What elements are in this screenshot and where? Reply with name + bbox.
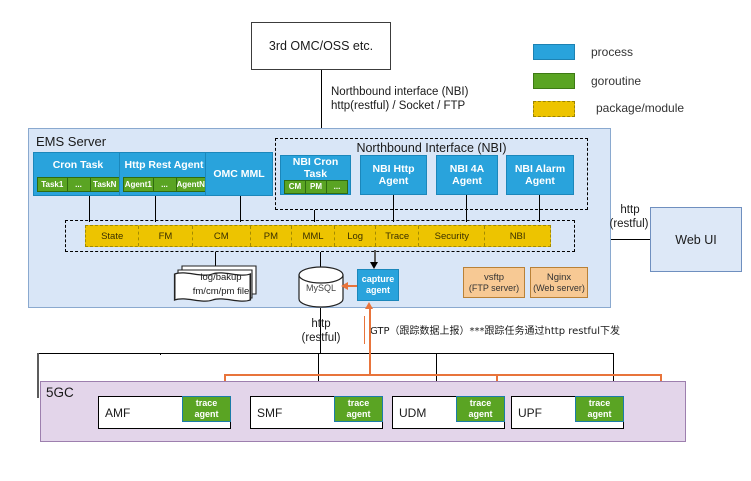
legend-swatch-process xyxy=(533,44,575,60)
web-ui-label: Web UI xyxy=(675,233,716,247)
process-cron-task-label: Cron Task xyxy=(32,153,124,177)
nf-amf-label: AMF xyxy=(105,406,130,420)
goroutine-agent-ellipsis[interactable]: ... xyxy=(153,177,177,192)
file-label-fm-cm-pm: fm/cm/pm file xyxy=(172,286,270,298)
five-gc-title: 5GC xyxy=(46,385,74,400)
trace-agent-upf-line1: trace xyxy=(589,398,611,409)
file-stack-shape xyxy=(172,264,270,306)
vsftp-server-box[interactable]: vsftp (FTP server) xyxy=(463,267,525,298)
third-party-oss-label: 3rd OMC/OSS etc. xyxy=(269,39,373,53)
nginx-server-box[interactable]: Nginx (Web server) xyxy=(530,267,588,298)
arrow-capture-agent-to-database xyxy=(341,282,348,290)
web-ui-box[interactable]: Web UI xyxy=(650,207,742,272)
gtp-http-label-line1: http xyxy=(298,317,344,331)
module-bar: State FM CM PM MML Log Trace Security NB… xyxy=(85,225,551,247)
process-nbi-4a-agent[interactable]: NBI 4A Agent xyxy=(436,155,498,195)
connector-orange-to-smf-trace xyxy=(369,308,371,374)
vsftp-role: (FTP server) xyxy=(469,283,519,294)
module-cm[interactable]: CM xyxy=(193,226,251,246)
process-nbi-cron-task-label: NBI Cron Task xyxy=(279,156,352,180)
trace-agent-upf-line2: agent xyxy=(587,409,611,420)
process-nbi-http-agent-label: NBI Http Agent xyxy=(359,156,428,194)
legend-swatch-goroutine xyxy=(533,73,575,89)
trace-agent-smf-line2: agent xyxy=(346,409,370,420)
trace-agent-amf[interactable]: trace agent xyxy=(182,396,231,422)
module-nbi[interactable]: NBI xyxy=(485,226,550,246)
process-http-rest-agent[interactable]: Http Rest Agent Agent1 ... AgentN xyxy=(119,152,209,196)
module-pm[interactable]: PM xyxy=(251,226,292,246)
goroutine-nbi-pm[interactable]: PM xyxy=(305,180,327,194)
goroutine-task-ellipsis[interactable]: ... xyxy=(67,177,91,192)
trace-agent-amf-line2: agent xyxy=(194,409,218,420)
nf-udm-label: UDM xyxy=(399,406,426,420)
arrow-modules-to-capture-agent xyxy=(370,262,378,269)
goroutine-nbi-ellipsis[interactable]: ... xyxy=(326,180,348,194)
third-party-oss-box: 3rd OMC/OSS etc. xyxy=(251,22,391,70)
connector-ems-to-web-ui xyxy=(611,239,650,240)
nf-upf-label: UPF xyxy=(518,406,542,420)
legend: process goroutine package/module xyxy=(533,44,748,116)
connector-http-rest-agent-to-modules xyxy=(155,196,156,222)
connector-cron-task-to-modules xyxy=(89,196,90,222)
web-ui-link-label-line1: http xyxy=(605,203,655,217)
ems-server-title: EMS Server xyxy=(36,134,106,149)
connector-bus-to-amf xyxy=(37,353,39,398)
nf-smf-label: SMF xyxy=(257,406,282,420)
database-label: MySQL xyxy=(297,283,345,293)
connector-nbi-4a-agent-to-modules xyxy=(466,195,467,222)
gtp-note-separator xyxy=(364,316,365,344)
goroutine-taskn[interactable]: TaskN xyxy=(90,177,121,192)
goroutine-task1[interactable]: Task1 xyxy=(37,177,68,192)
nbi-link-label-line1: Northbound interface (NBI) xyxy=(331,85,468,99)
arrow-trace-to-capture-agent xyxy=(365,302,373,309)
nbi-link-label-line2: http(restful) / Socket / FTP xyxy=(331,99,465,113)
process-nbi-http-agent[interactable]: NBI Http Agent xyxy=(360,155,427,195)
legend-swatch-package-module xyxy=(533,101,575,117)
nbi-cron-task-goroutines: CM PM ... xyxy=(284,180,347,194)
module-mml[interactable]: MML xyxy=(292,226,335,246)
goroutine-nbi-cm[interactable]: CM xyxy=(284,180,306,194)
connector-bus-down-mid xyxy=(160,353,161,355)
file-label-log-backup: log/bakup xyxy=(172,272,270,284)
module-trace[interactable]: Trace xyxy=(376,226,419,246)
process-omc-mml[interactable]: OMC MML xyxy=(205,152,273,196)
goroutine-agentn[interactable]: AgentN xyxy=(176,177,207,192)
process-cron-task[interactable]: Cron Task Task1 ... TaskN xyxy=(33,152,123,196)
trace-agent-udm-line2: agent xyxy=(468,409,492,420)
web-ui-link-label-line2: (restful) xyxy=(600,217,658,231)
goroutine-agent1[interactable]: Agent1 xyxy=(123,177,154,192)
connector-omc-mml-to-modules xyxy=(240,196,241,222)
gtp-http-label-line2: (restful) xyxy=(298,331,344,345)
nginx-name: Nginx xyxy=(547,272,571,283)
process-http-rest-agent-label: Http Rest Agent xyxy=(118,153,210,177)
legend-label-goroutine: goroutine xyxy=(591,74,641,88)
connector-nbi-alarm-agent-to-modules xyxy=(539,195,540,222)
trace-agent-udm-line1: trace xyxy=(470,398,492,409)
process-omc-mml-label: OMC MML xyxy=(204,153,274,195)
connector-nbi-http-agent-to-modules xyxy=(393,195,394,222)
connector-oss-to-ems xyxy=(321,70,322,128)
legend-label-package-module: package/module xyxy=(596,101,684,115)
cron-task-goroutines: Task1 ... TaskN xyxy=(37,177,119,192)
capture-agent-label-line1: capture xyxy=(362,274,395,285)
process-nbi-4a-agent-label: NBI 4A Agent xyxy=(435,156,499,194)
capture-agent-label-line2: agent xyxy=(366,285,390,296)
capture-agent-box[interactable]: capture agent xyxy=(357,269,399,301)
module-log[interactable]: Log xyxy=(335,226,376,246)
http-rest-agent-goroutines: Agent1 ... AgentN xyxy=(123,177,205,192)
gtp-note-label: GTP（跟踪数据上报）***跟踪任务通过http restful下发 xyxy=(370,322,620,337)
trace-agent-smf-line1: trace xyxy=(348,398,370,409)
module-security[interactable]: Security xyxy=(419,226,485,246)
trace-bus-black xyxy=(37,353,614,354)
process-nbi-alarm-agent[interactable]: NBI Alarm Agent xyxy=(506,155,574,195)
module-fm[interactable]: FM xyxy=(139,226,192,246)
trace-bus-orange xyxy=(224,374,661,376)
nginx-role: (Web server) xyxy=(533,283,585,294)
module-state[interactable]: State xyxy=(86,226,139,246)
process-nbi-cron-task[interactable]: NBI Cron Task CM PM ... xyxy=(280,155,351,195)
process-nbi-alarm-agent-label: NBI Alarm Agent xyxy=(505,156,575,194)
trace-agent-amf-line1: trace xyxy=(196,398,218,409)
trace-agent-udm[interactable]: trace agent xyxy=(456,396,505,422)
trace-agent-smf[interactable]: trace agent xyxy=(334,396,383,422)
legend-label-process: process xyxy=(591,45,633,59)
trace-agent-upf[interactable]: trace agent xyxy=(575,396,624,422)
nbi-group-title: Northbound Interface (NBI) xyxy=(275,140,588,156)
vsftp-name: vsftp xyxy=(484,272,504,283)
